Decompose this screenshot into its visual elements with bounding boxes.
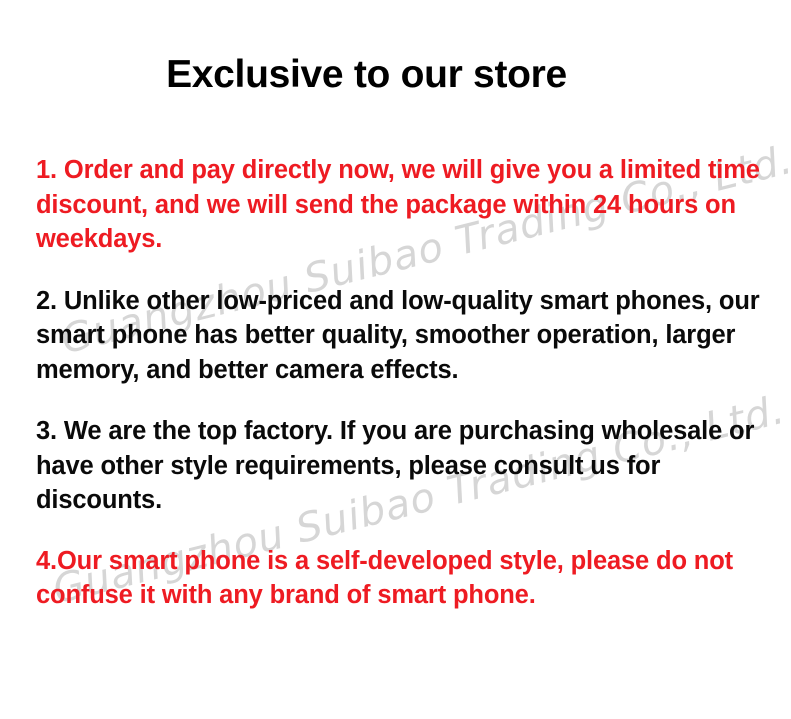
promo-paragraph-4: 4.Our smart phone is a self-developed st…: [36, 544, 776, 613]
promo-banner-page: Guangzhou Suibao Trading Co., Ltd. Guang…: [0, 0, 791, 719]
page-title: Exclusive to our store: [0, 52, 733, 98]
promo-paragraph-1: 1. Order and pay directly now, we will g…: [36, 153, 776, 257]
promo-paragraph-3: 3. We are the top factory. If you are pu…: [36, 414, 776, 518]
body-text-block: 1. Order and pay directly now, we will g…: [36, 153, 776, 613]
content-layer: Exclusive to our store 1. Order and pay …: [0, 0, 791, 719]
promo-paragraph-2: 2. Unlike other low-priced and low-quali…: [36, 284, 776, 388]
